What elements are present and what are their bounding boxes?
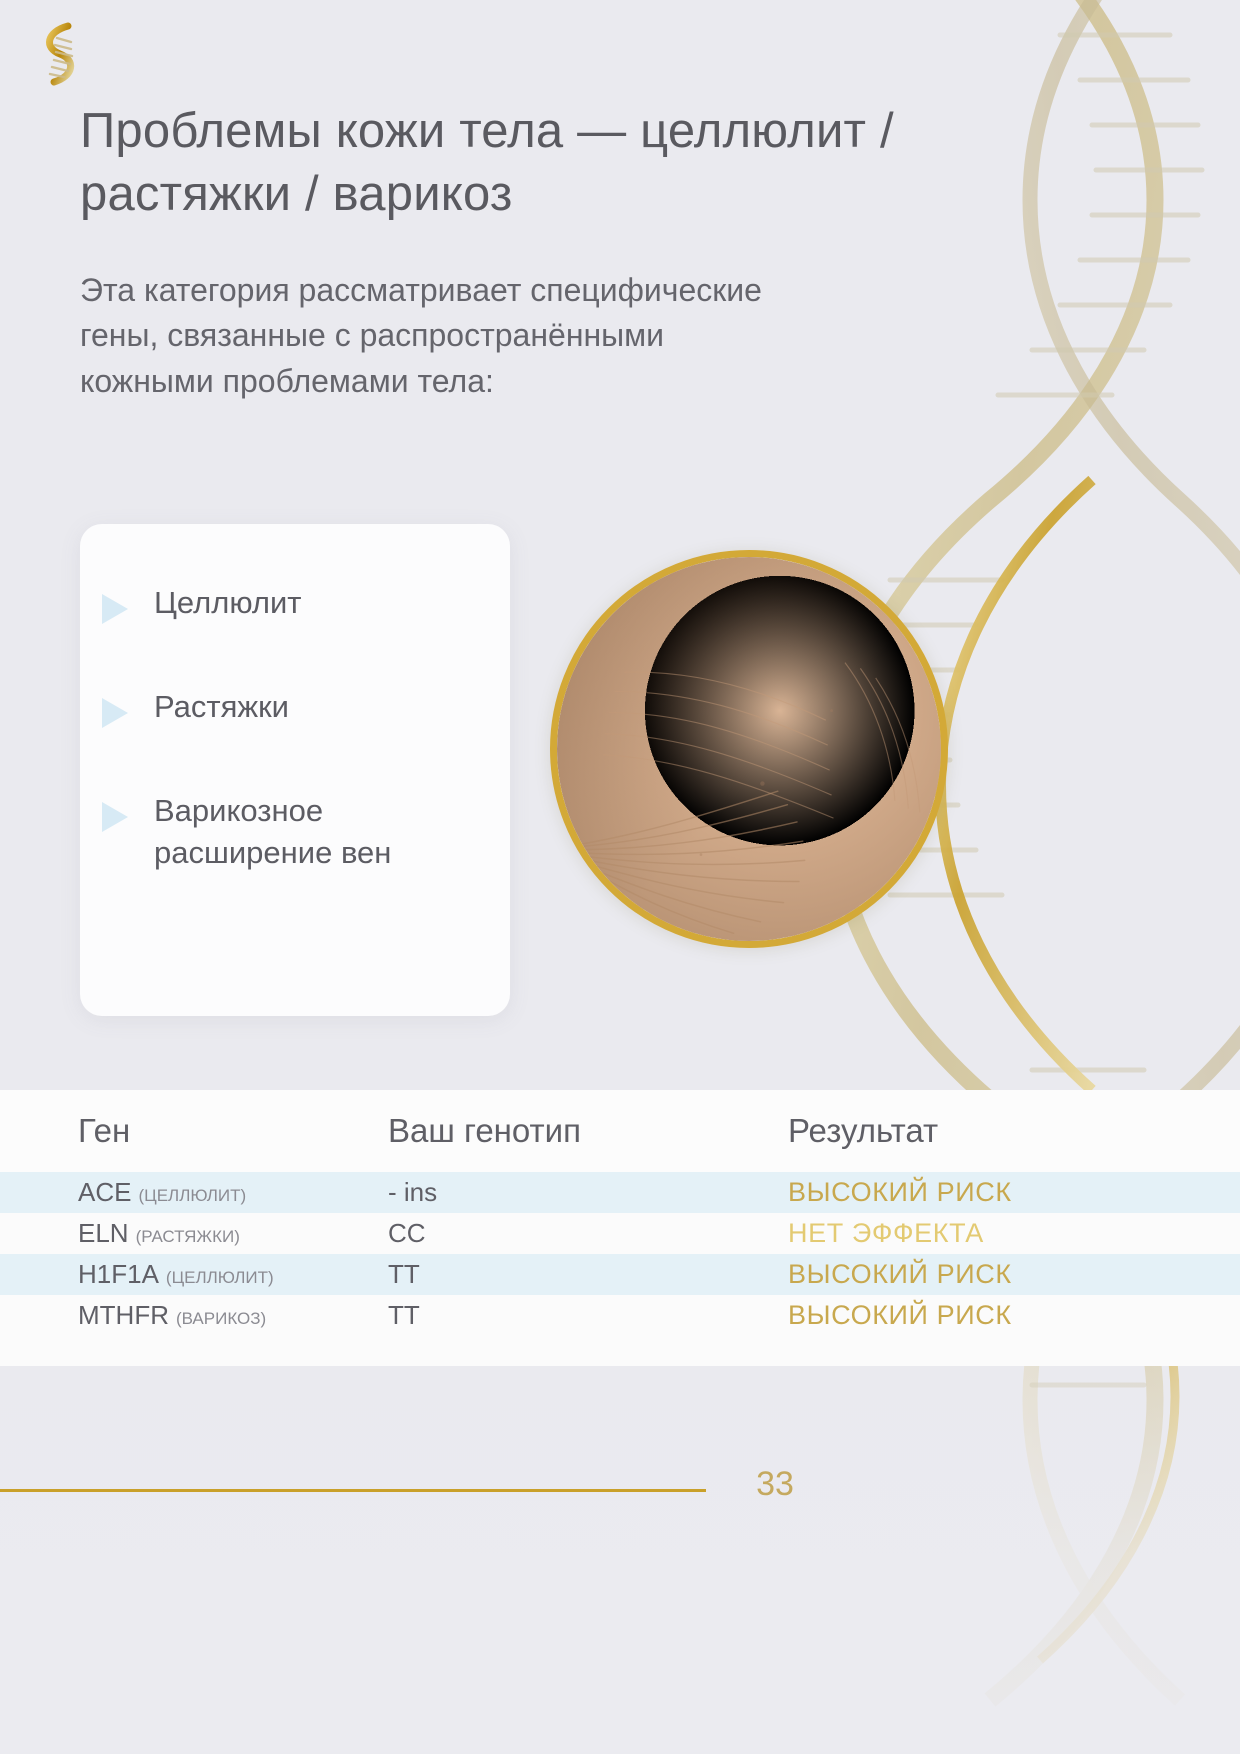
skin-closeup-photo (550, 550, 948, 948)
triangle-right-icon (102, 594, 128, 624)
conditions-list: Целлюлит Растяжки Варикозное расширение … (80, 582, 476, 873)
list-item: Целлюлит (80, 582, 476, 624)
page-title: Проблемы кожи тела — целлюлит / растяжки… (80, 100, 960, 225)
cell-result: НЕТ ЭФФЕКТА (788, 1218, 1200, 1249)
cell-gene: H1F1A(ЦЕЛЛЮЛИТ) (78, 1259, 388, 1290)
cell-gene: MTHFR(ВАРИКОЗ) (78, 1300, 388, 1331)
gene-name: ACE (78, 1177, 131, 1207)
photo-image (557, 557, 941, 941)
table-row: H1F1A(ЦЕЛЛЮЛИТ) TT ВЫСОКИЙ РИСК (0, 1254, 1240, 1295)
cell-result: ВЫСОКИЙ РИСК (788, 1300, 1200, 1331)
gene-note: (ЦЕЛЛЮЛИТ) (138, 1186, 246, 1205)
triangle-right-icon (102, 802, 128, 832)
background-fade (0, 1314, 1240, 1754)
cell-gene: ACE(ЦЕЛЛЮЛИТ) (78, 1177, 388, 1208)
table-bottom-padding (0, 1336, 1240, 1366)
table-header-row: Ген Ваш генотип Результат (0, 1090, 1240, 1172)
cell-genotype: CC (388, 1218, 788, 1249)
cell-result: ВЫСОКИЙ РИСК (788, 1259, 1200, 1290)
column-header-gene: Ген (78, 1112, 388, 1150)
column-header-result: Результат (788, 1112, 1200, 1150)
gene-name: MTHFR (78, 1300, 169, 1330)
list-item: Варикозное расширение вен (80, 790, 476, 873)
column-header-genotype: Ваш генотип (388, 1112, 788, 1150)
list-item-label: Целлюлит (154, 582, 302, 624)
page-number: 33 (735, 1465, 815, 1504)
cell-genotype: TT (388, 1300, 788, 1331)
table-row: ACE(ЦЕЛЛЮЛИТ) - ins ВЫСОКИЙ РИСК (0, 1172, 1240, 1213)
list-item-label: Растяжки (154, 686, 289, 728)
gene-note: (ВАРИКОЗ) (176, 1309, 266, 1328)
cell-genotype: - ins (388, 1177, 788, 1208)
list-item-label: Варикозное расширение вен (154, 790, 476, 873)
genotype-table: Ген Ваш генотип Результат ACE(ЦЕЛЛЮЛИТ) … (0, 1090, 1240, 1366)
intro-paragraph: Эта категория рассматривает специфически… (80, 268, 800, 404)
slide-page: Проблемы кожи тела — целлюлит / растяжки… (0, 0, 1240, 1754)
gene-note: (ЦЕЛЛЮЛИТ) (166, 1268, 274, 1287)
conditions-card: Целлюлит Растяжки Варикозное расширение … (80, 524, 510, 1016)
list-item: Растяжки (80, 686, 476, 728)
cell-genotype: TT (388, 1259, 788, 1290)
table-row: MTHFR(ВАРИКОЗ) TT ВЫСОКИЙ РИСК (0, 1295, 1240, 1336)
cell-gene: ELN(РАСТЯЖКИ) (78, 1218, 388, 1249)
dna-helix-icon (30, 18, 94, 90)
gene-name: H1F1A (78, 1259, 159, 1289)
cell-result: ВЫСОКИЙ РИСК (788, 1177, 1200, 1208)
table-row: ELN(РАСТЯЖКИ) CC НЕТ ЭФФЕКТА (0, 1213, 1240, 1254)
triangle-right-icon (102, 698, 128, 728)
gene-note: (РАСТЯЖКИ) (136, 1227, 240, 1246)
gene-name: ELN (78, 1218, 129, 1248)
footer-divider (0, 1489, 706, 1492)
